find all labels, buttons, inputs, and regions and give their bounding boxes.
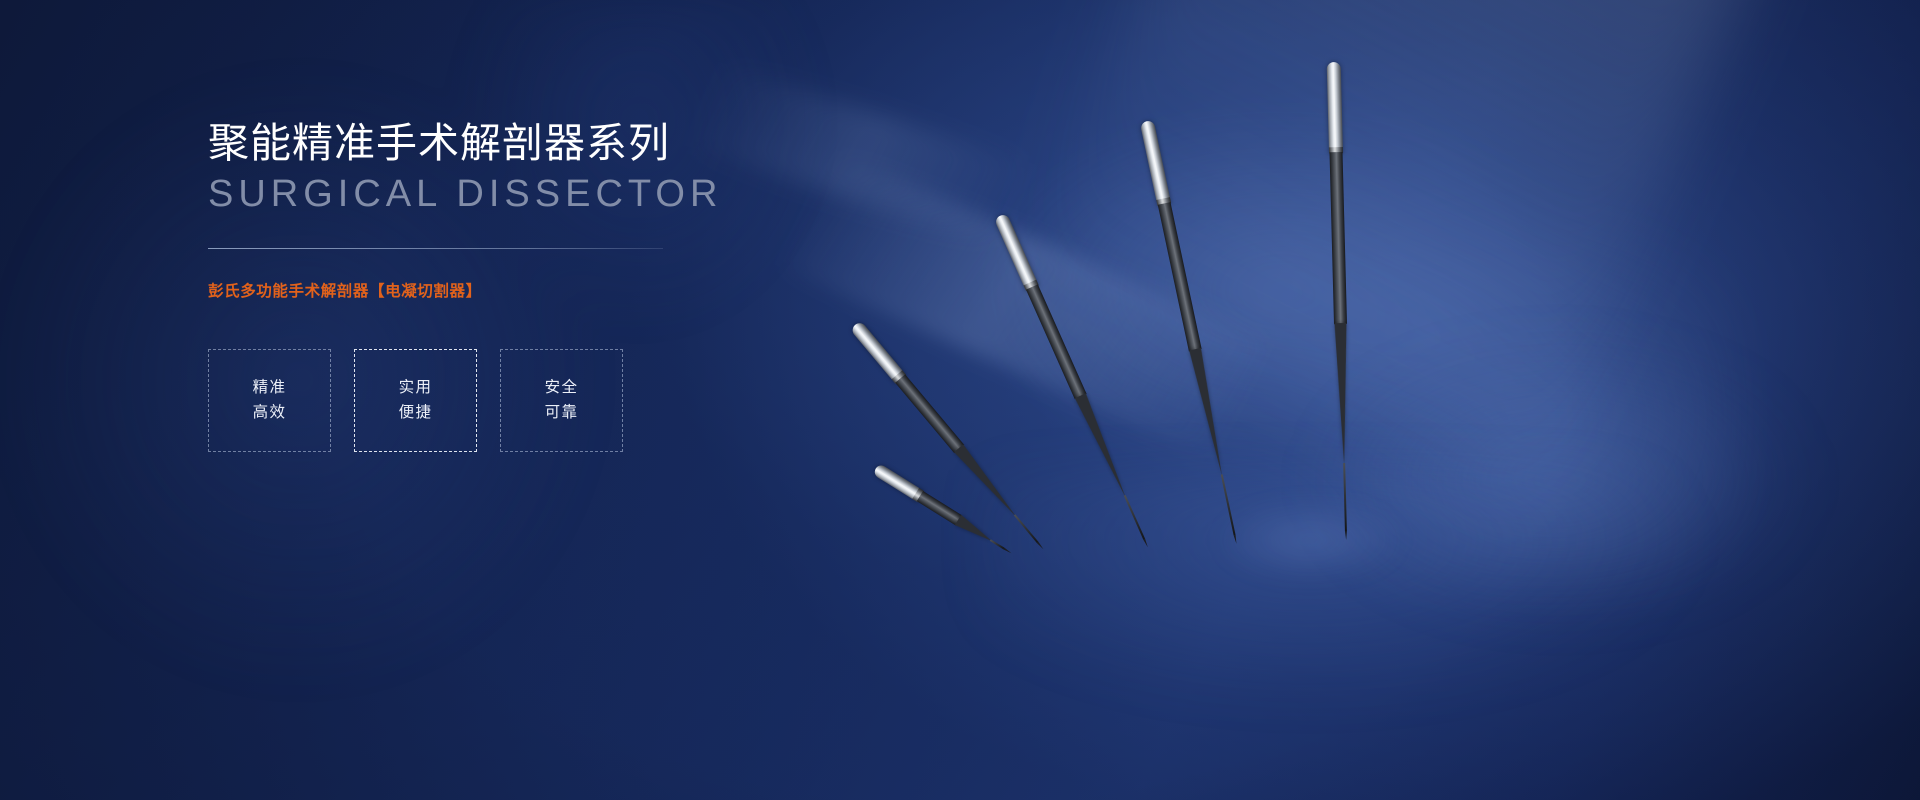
feature-line-1: 安全 (545, 380, 579, 396)
feature-line-1: 精准 (253, 380, 287, 396)
divider (208, 248, 663, 249)
feature-box-practical[interactable]: 实用 便捷 (354, 349, 477, 452)
hero-copy: 聚能精准手术解剖器系列 SURGICAL DISSECTOR 彭氏多功能手术解剖… (208, 118, 828, 452)
page-subtitle: SURGICAL DISSECTOR (208, 172, 828, 217)
page-title: 聚能精准手术解剖器系列 (208, 118, 828, 168)
feature-line-2: 可靠 (545, 405, 579, 421)
feature-box-group: 精准 高效 实用 便捷 安全 可靠 (208, 349, 828, 452)
feature-box-precision[interactable]: 精准 高效 (208, 349, 331, 452)
product-tagline: 彭氏多功能手术解剖器【电凝切割器】 (208, 279, 828, 301)
feature-box-safety[interactable]: 安全 可靠 (500, 349, 623, 452)
feature-line-2: 高效 (253, 405, 287, 421)
hero-banner: 聚能精准手术解剖器系列 SURGICAL DISSECTOR 彭氏多功能手术解剖… (0, 0, 1920, 800)
feature-line-1: 实用 (399, 380, 433, 396)
feature-line-2: 便捷 (399, 405, 433, 421)
